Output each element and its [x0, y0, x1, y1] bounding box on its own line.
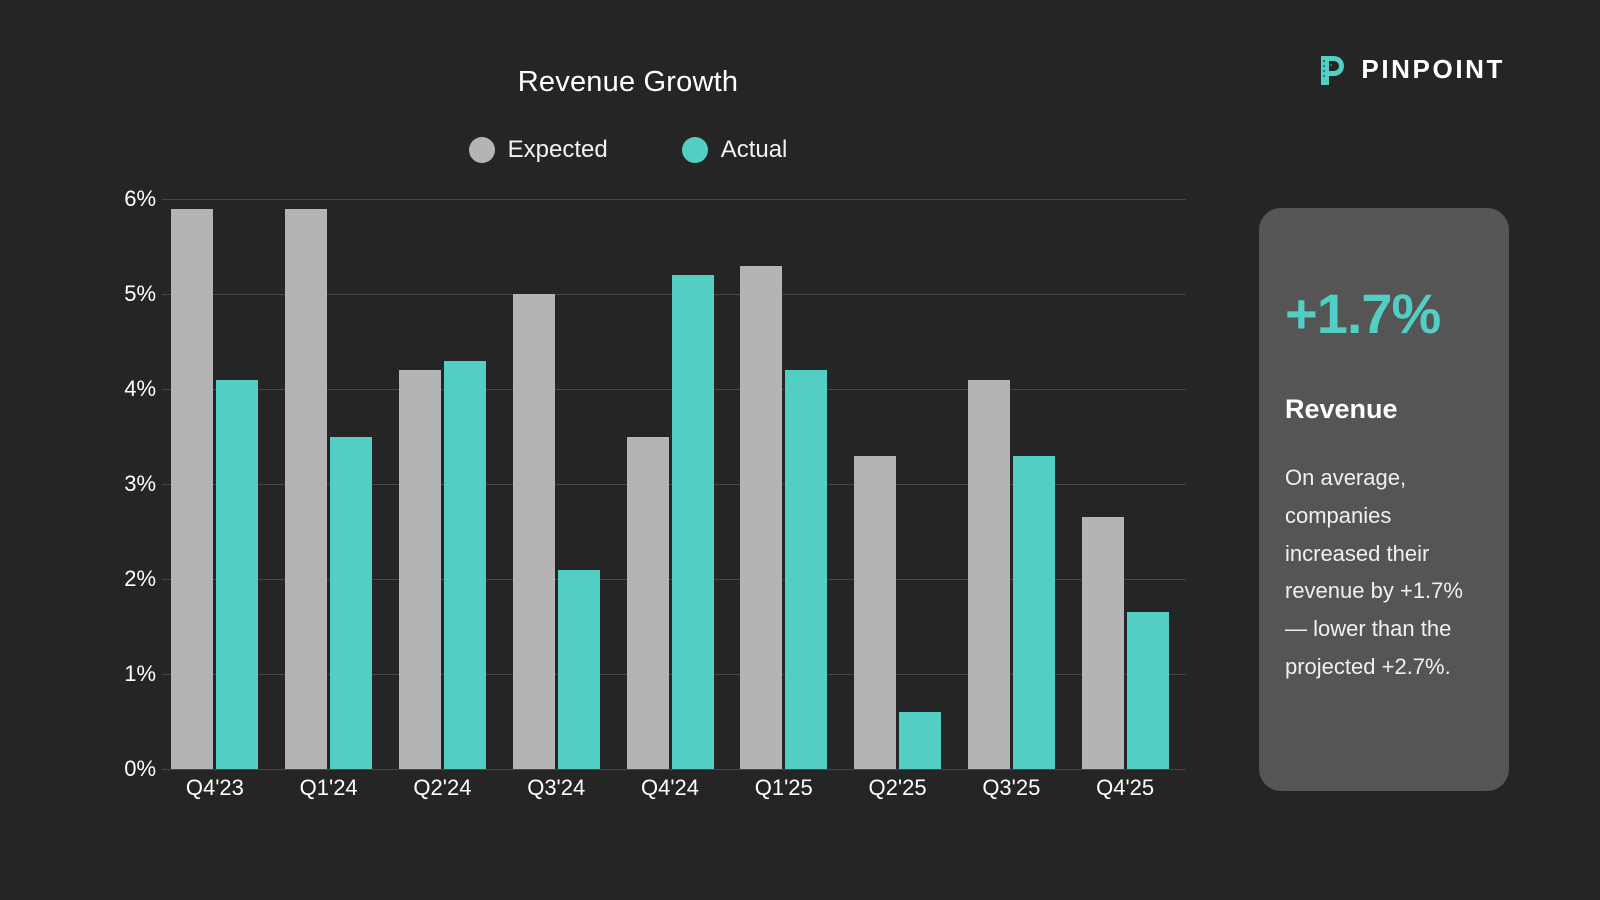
y-axis-tick-label: 5%	[70, 281, 156, 307]
bar-actual[interactable]	[1013, 456, 1055, 770]
bar-actual[interactable]	[216, 380, 258, 770]
legend-label-expected: Expected	[508, 136, 608, 164]
legend-swatch-expected	[469, 137, 495, 163]
y-axis-tick-label: 6%	[70, 186, 156, 212]
bar-actual[interactable]	[558, 570, 600, 770]
bar-expected[interactable]	[968, 380, 1010, 770]
bar-expected[interactable]	[513, 294, 555, 769]
chart-legend: Expected Actual	[0, 136, 1256, 164]
bar-expected[interactable]	[740, 266, 782, 770]
bar-expected[interactable]	[399, 370, 441, 769]
bar-series-container	[162, 199, 1186, 769]
bar-expected[interactable]	[171, 209, 213, 770]
bar-actual[interactable]	[785, 370, 827, 769]
legend-swatch-actual	[682, 137, 708, 163]
plot-area	[162, 199, 1186, 769]
y-axis-tick-label: 1%	[70, 661, 156, 687]
legend-label-actual: Actual	[721, 136, 788, 164]
x-axis-tick-label: Q3'25	[982, 775, 1040, 801]
gridline	[162, 769, 1186, 770]
bar-expected[interactable]	[627, 437, 669, 770]
chart-title: Revenue Growth	[0, 66, 1256, 99]
bar-expected[interactable]	[285, 209, 327, 770]
bar-actual[interactable]	[672, 275, 714, 769]
y-axis-tick-label: 2%	[70, 566, 156, 592]
x-axis-tick-label: Q3'24	[527, 775, 585, 801]
stat-label: Revenue	[1285, 394, 1483, 425]
bar-actual[interactable]	[899, 712, 941, 769]
stat-card: +1.7% Revenue On average, companies incr…	[1259, 208, 1509, 791]
brand-logo: PINPOINT	[1317, 52, 1505, 86]
x-axis-tick-label: Q4'23	[186, 775, 244, 801]
x-axis-tick-label: Q2'24	[413, 775, 471, 801]
bar-expected[interactable]	[1082, 517, 1124, 769]
bar-actual[interactable]	[330, 437, 372, 770]
x-axis-tick-label: Q4'25	[1096, 775, 1154, 801]
y-axis-tick-label: 4%	[70, 376, 156, 402]
legend-item-actual[interactable]: Actual	[682, 136, 788, 164]
x-axis-tick-label: Q1'25	[755, 775, 813, 801]
x-axis-tick-label: Q2'25	[869, 775, 927, 801]
brand-name: PINPOINT	[1361, 54, 1505, 85]
pinpoint-p-mark-icon	[1317, 52, 1347, 86]
y-axis-tick-label: 3%	[70, 471, 156, 497]
bar-actual[interactable]	[444, 361, 486, 770]
stat-description: On average, companies increased their re…	[1285, 459, 1483, 686]
x-axis-tick-label: Q1'24	[300, 775, 358, 801]
dashboard-canvas: PINPOINT Revenue Growth Expected Actual …	[0, 0, 1600, 900]
stat-value: +1.7%	[1285, 286, 1483, 342]
y-axis-tick-label: 0%	[70, 756, 156, 782]
bar-expected[interactable]	[854, 456, 896, 770]
legend-item-expected[interactable]: Expected	[469, 136, 608, 164]
x-axis: Q4'23Q1'24Q2'24Q3'24Q4'24Q1'25Q2'25Q3'25…	[162, 775, 1186, 815]
y-axis: 0%1%2%3%4%5%6%	[70, 199, 156, 769]
x-axis-tick-label: Q4'24	[641, 775, 699, 801]
bar-actual[interactable]	[1127, 612, 1169, 769]
